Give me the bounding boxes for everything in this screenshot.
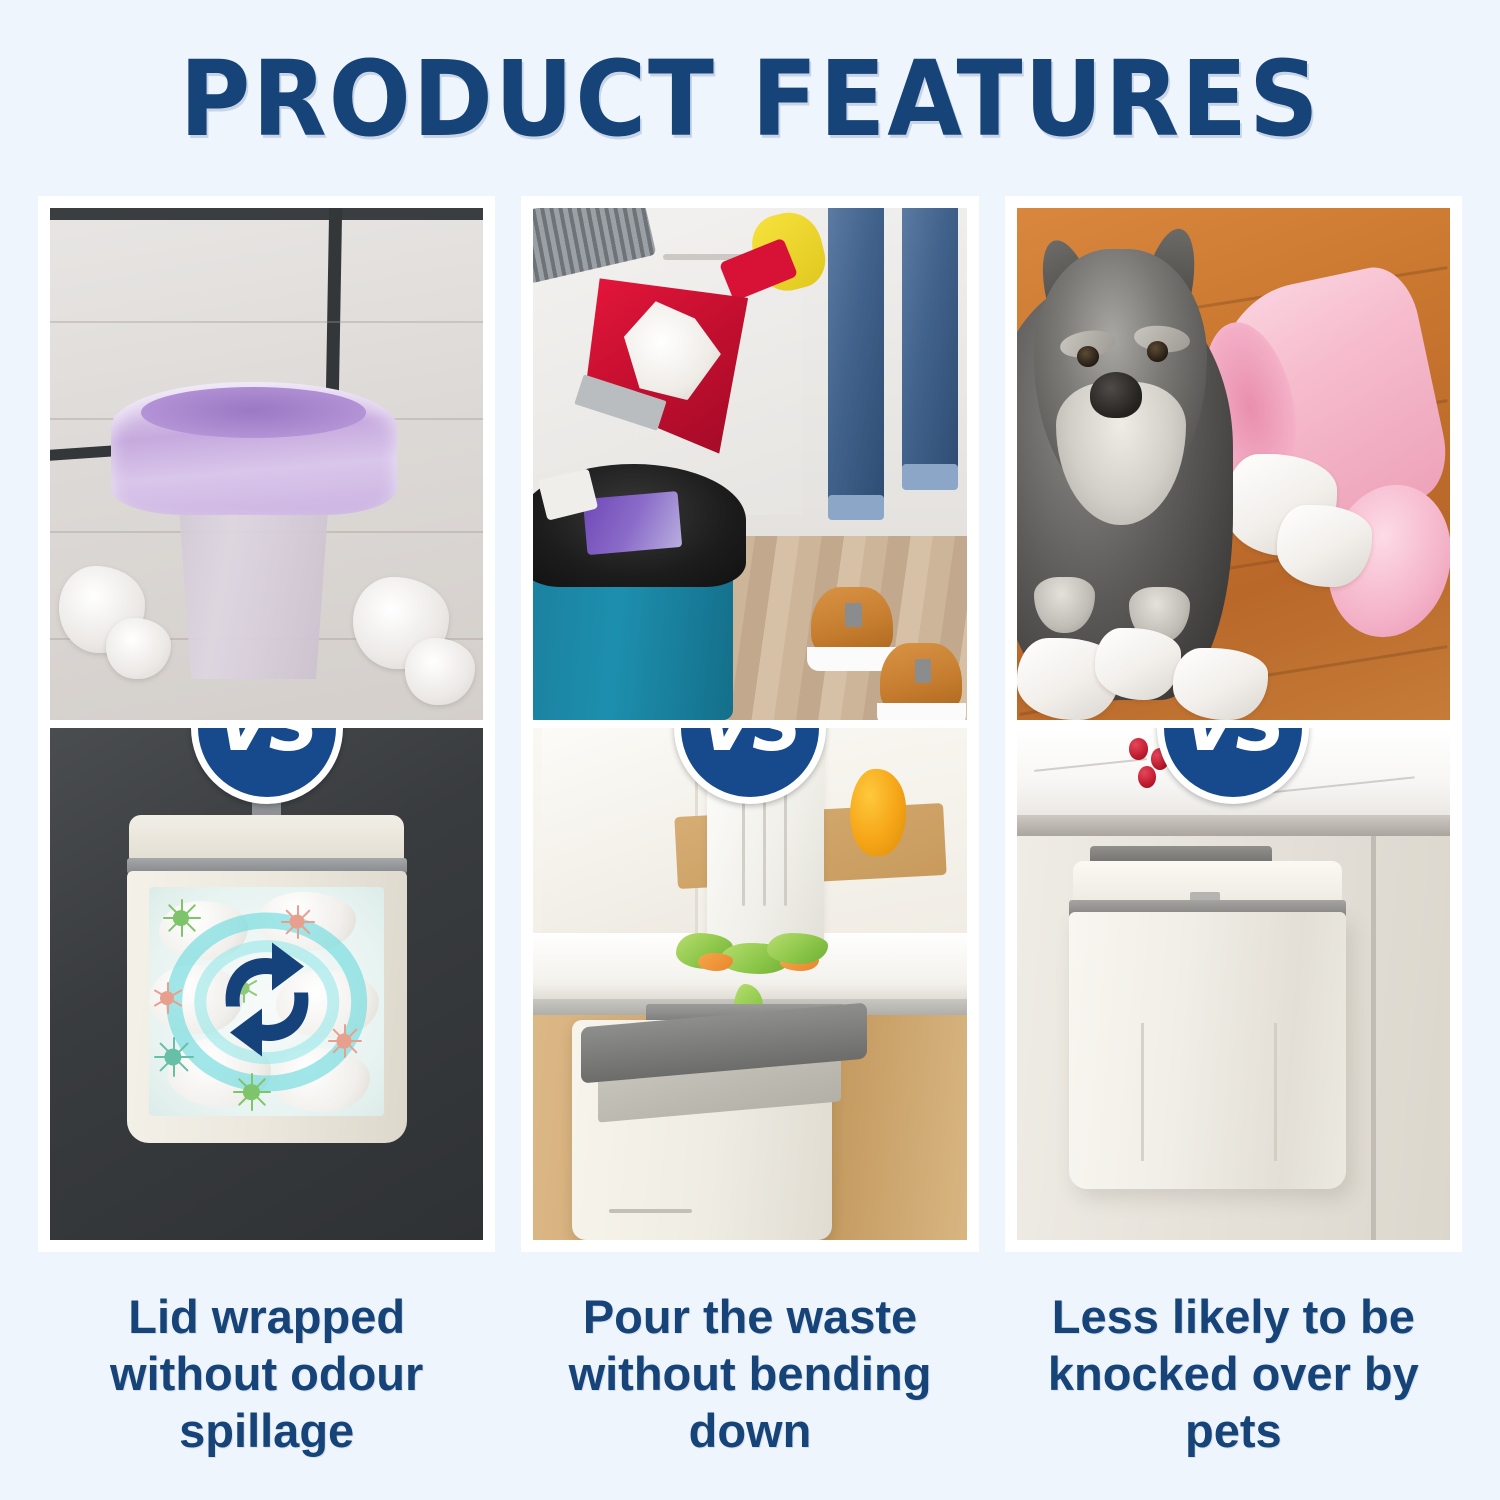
dog-nose xyxy=(1090,372,1142,418)
feature-column-2: VS xyxy=(521,196,978,1252)
dog-eye xyxy=(1147,341,1169,361)
tissue-icon xyxy=(405,638,474,705)
feature-column-3: VS xyxy=(1005,196,1462,1252)
vs-badge-label: VS xyxy=(700,728,801,767)
germ-icon xyxy=(234,1075,269,1109)
shredded-paper-icon xyxy=(1173,648,1268,720)
jeans-cuff xyxy=(828,495,884,521)
page-title: PRODUCT FEATURES xyxy=(53,44,1448,154)
cabinet-seam xyxy=(1371,836,1376,1240)
shredded-paper-icon xyxy=(1277,505,1372,587)
bin-rib xyxy=(1274,1023,1277,1161)
shoe-icon xyxy=(880,643,962,710)
bin-ridge xyxy=(609,1209,692,1213)
caption-row: Lid wrapped without odour spillage Pour … xyxy=(38,1288,1462,1459)
germ-icon xyxy=(154,1038,192,1075)
caption-pet-safe: Less likely to be knocked over by pets xyxy=(1005,1288,1462,1459)
germ-icon xyxy=(281,905,314,937)
vs-badge-label: VS xyxy=(1183,728,1284,767)
product-bin xyxy=(124,815,410,1143)
photo-sealed-hanging-bin-odour-lock: VS xyxy=(50,728,483,1240)
vegetable-scrap-icon xyxy=(767,933,828,964)
jeans-cuff xyxy=(902,464,958,490)
vs-badge: VS xyxy=(191,728,343,804)
person-leg xyxy=(828,208,884,505)
vs-badge-label: VS xyxy=(216,728,317,767)
bell-pepper-icon xyxy=(850,769,906,856)
cherry-icon xyxy=(1129,738,1147,760)
dog-eye xyxy=(1077,346,1099,366)
photo-dog-knocked-over-bin xyxy=(1017,208,1450,720)
photo-bending-with-dustpan xyxy=(533,208,966,720)
germ-icon xyxy=(152,983,182,1013)
bin-rib xyxy=(1141,1023,1144,1161)
photo-counter-edge-scrape-into-bin: VS xyxy=(533,728,966,1240)
counter-lip xyxy=(1017,815,1450,835)
baseboard xyxy=(50,208,483,220)
shoe-elastic-tab xyxy=(915,659,931,683)
tissue-icon xyxy=(106,618,171,679)
feature-column-1: VS xyxy=(38,196,495,1252)
floor-seam xyxy=(50,321,483,323)
shoe-sole xyxy=(877,703,966,720)
feature-columns: VS xyxy=(38,196,1462,1252)
trash-content xyxy=(583,491,683,555)
shoe-icon xyxy=(811,587,893,654)
person-leg xyxy=(902,208,958,474)
odour-circulation-arrows-icon xyxy=(192,934,342,1069)
shoe-elastic-tab xyxy=(845,603,861,627)
bin-lid xyxy=(129,815,404,861)
photo-bin-hanging-on-cabinet-door: VS xyxy=(1017,728,1450,1240)
caption-pour-waste: Pour the waste without bending down xyxy=(521,1288,978,1459)
cherry-icon xyxy=(1138,766,1156,788)
photo-open-bin-with-purple-bag xyxy=(50,208,483,720)
bin-cutaway-window xyxy=(149,887,384,1116)
bin-tub xyxy=(1069,912,1346,1188)
germ-icon xyxy=(163,901,198,935)
caption-lid-wrapped: Lid wrapped without odour spillage xyxy=(38,1288,495,1459)
shredded-paper-icon xyxy=(1095,628,1182,700)
